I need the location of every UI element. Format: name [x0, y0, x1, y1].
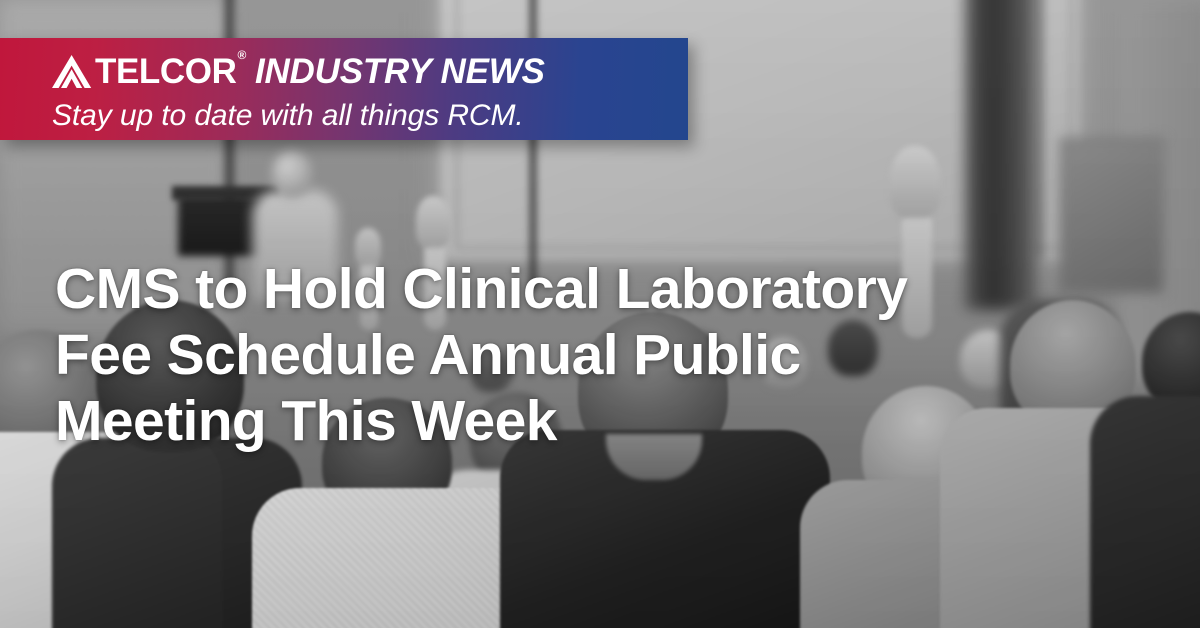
- registered-trademark-mark: ®: [237, 48, 245, 62]
- brand-row: TELCOR® INDUSTRY NEWS: [52, 50, 688, 94]
- banner-tagline: Stay up to date with all things RCM.: [52, 101, 688, 131]
- presenter-head: [272, 150, 312, 198]
- telcor-triangle-icon: [52, 55, 92, 88]
- telcor-industry-news-banner: TELCOR® INDUSTRY NEWS Stay up to date wi…: [0, 38, 688, 140]
- brand-name: TELCOR®: [95, 54, 245, 89]
- audience-person-body: [1090, 396, 1200, 628]
- headline-line-2: Fee Schedule Annual Public: [55, 322, 1065, 388]
- wall-beam-right: [1034, 0, 1044, 260]
- headline-line-3: Meeting This Week: [55, 388, 1065, 454]
- raised-hand: [890, 146, 940, 218]
- article-headline: CMS to Hold Clinical Laboratory Fee Sche…: [55, 256, 1065, 454]
- audience-person-body: [252, 488, 542, 628]
- raised-hand: [416, 196, 450, 248]
- headline-line-1: CMS to Hold Clinical Laboratory: [55, 256, 1065, 322]
- news-banner-card: TELCOR® INDUSTRY NEWS Stay up to date wi…: [0, 0, 1200, 628]
- framed-artwork: [1060, 138, 1164, 294]
- banner-kicker: INDUSTRY NEWS: [255, 54, 545, 89]
